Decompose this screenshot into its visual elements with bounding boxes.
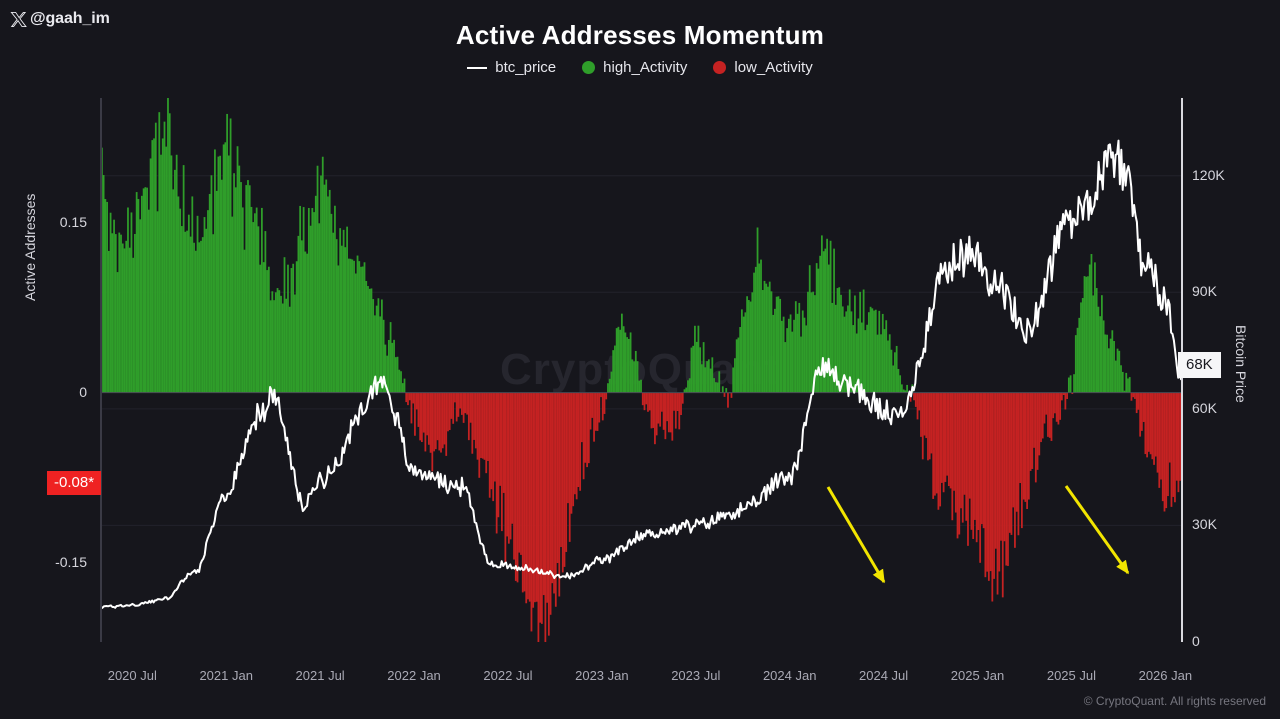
x-tick-label: 2021 Jul bbox=[296, 668, 345, 683]
x-tick-label: 2024 Jul bbox=[859, 668, 908, 683]
x-tick-label: 2025 Jan bbox=[951, 668, 1005, 683]
legend-item-high-activity[interactable]: high_Activity bbox=[582, 59, 687, 76]
right-tick-label: 60K bbox=[1192, 400, 1217, 416]
left-tick-label: -0.15 bbox=[55, 554, 87, 570]
x-tick-label: 2025 Jul bbox=[1047, 668, 1096, 683]
current-momentum-badge: -0.08* bbox=[47, 471, 101, 495]
chart-screenshot: @gaah_im Active Addresses Momentum btc_p… bbox=[0, 0, 1280, 719]
right-tick-label: 90K bbox=[1192, 283, 1217, 299]
x-handle-watermark: @gaah_im bbox=[10, 10, 110, 28]
x-tick-label: 2026 Jan bbox=[1139, 668, 1193, 683]
left-axis-title: Active Addresses bbox=[22, 194, 38, 301]
x-tick-label: 2023 Jan bbox=[575, 668, 629, 683]
red-dot-icon bbox=[713, 61, 726, 74]
chart-legend: btc_price high_Activity low_Activity bbox=[0, 59, 1280, 76]
right-tick-label: 120K bbox=[1192, 167, 1225, 183]
x-tick-label: 2022 Jul bbox=[483, 668, 532, 683]
x-tick-label: 2021 Jan bbox=[199, 668, 253, 683]
legend-label: btc_price bbox=[495, 59, 556, 76]
right-tick-label: 30K bbox=[1192, 516, 1217, 532]
x-tick-label: 2023 Jul bbox=[671, 668, 720, 683]
chart-canvas bbox=[101, 98, 1181, 642]
x-tick-label: 2020 Jul bbox=[108, 668, 157, 683]
plot-area[interactable] bbox=[101, 98, 1181, 642]
x-logo-icon bbox=[10, 11, 27, 28]
left-tick-label: 0 bbox=[79, 384, 87, 400]
copyright-footer: © CryptoQuant. All rights reserved bbox=[1084, 694, 1266, 708]
x-handle-label: @gaah_im bbox=[30, 10, 110, 28]
chart-title: Active Addresses Momentum bbox=[0, 20, 1280, 51]
legend-item-low-activity[interactable]: low_Activity bbox=[713, 59, 812, 76]
x-tick-label: 2022 Jan bbox=[387, 668, 441, 683]
legend-item-btc-price[interactable]: btc_price bbox=[467, 59, 556, 76]
left-axis-spine bbox=[100, 98, 102, 642]
green-dot-icon bbox=[582, 61, 595, 74]
bars-low-activity bbox=[405, 393, 1181, 642]
line-marker-icon bbox=[467, 67, 487, 69]
current-price-badge: 68K bbox=[1178, 352, 1221, 378]
legend-label: high_Activity bbox=[603, 59, 687, 76]
legend-label: low_Activity bbox=[734, 59, 812, 76]
right-tick-label: 0 bbox=[1192, 633, 1200, 649]
x-tick-label: 2024 Jan bbox=[763, 668, 817, 683]
left-tick-label: 0.15 bbox=[60, 214, 87, 230]
right-axis-title: Bitcoin Price bbox=[1233, 325, 1249, 403]
